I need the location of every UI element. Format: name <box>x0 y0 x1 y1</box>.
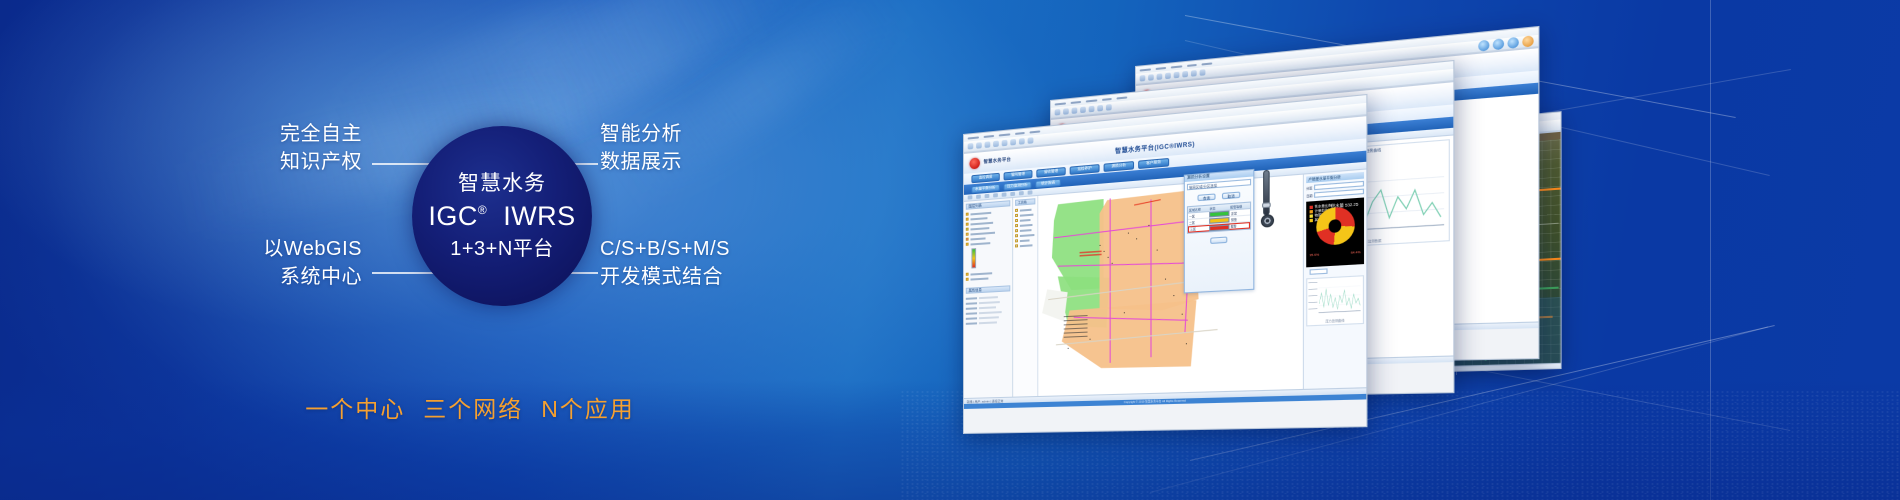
banner-root: 智慧水务平台 智慧水务平台(IGC®IWRS) 监控调度 管网管理 营收管理 巡… <box>0 0 1900 500</box>
chart-title-pressure: 压力监测曲线 <box>1307 317 1363 324</box>
hub-cn-title: 智慧水务 <box>458 173 546 194</box>
dialog-cancel-button[interactable]: 取消 <box>1222 192 1240 200</box>
toolbox-panel[interactable]: 工具箱 <box>1013 196 1038 397</box>
line-chart-svg <box>1319 278 1361 315</box>
status-swatch <box>1209 224 1229 231</box>
feature-line2: 数据展示 <box>600 148 820 176</box>
selector-label: 分区: <box>1306 185 1313 190</box>
date-label: 日期: <box>1306 193 1313 198</box>
hub-en-igc: IGC <box>428 201 478 231</box>
feature-line2: 开发模式结合 <box>600 263 830 291</box>
donut-chart-panel: 售水量比例 计量损失比例 物理漏损比例 其他损失比例 供水量 532.25 35… <box>1306 197 1364 267</box>
chart-y-ticks <box>1308 282 1317 315</box>
feature-line1: 完全自主 <box>182 120 362 148</box>
feature-bottom-left: 以WebGIS 系统中心 <box>182 235 362 292</box>
legend-ramp <box>971 248 976 268</box>
pipe-line <box>1150 199 1151 357</box>
row-level: 预警 <box>1231 216 1250 222</box>
feature-line1: C/S+B/S+M/S <box>600 235 830 263</box>
hub-subtitle: 1+3+N平台 <box>450 239 554 259</box>
row-level: 正常 <box>1231 210 1250 216</box>
subnav-item[interactable]: 统计报表 <box>1035 178 1060 187</box>
hub-en-iwrs: IWRS <box>503 201 576 231</box>
tagline-part1: 一个中心 <box>305 396 405 422</box>
hub-circle: 智慧水务 IGC® IWRS 1+3+N平台 <box>412 126 592 306</box>
feature-top-left: 完全自主 知识产权 <box>182 120 362 177</box>
panel-title-attributes: 属性信息 <box>966 285 1010 294</box>
donut-label-left: 35.6% <box>1310 252 1320 257</box>
hub-en-title: IGC® IWRS <box>428 203 575 230</box>
tool-item[interactable] <box>1015 242 1035 248</box>
map-node <box>1068 348 1069 349</box>
app-window-front[interactable]: 智慧水务平台 智慧水务平台(IGC®IWRS) 监控调度 管网管理 营收管理 巡… <box>963 94 1367 434</box>
donut-label-right: 64.4% <box>1351 250 1361 255</box>
feature-line1: 以WebGIS <box>182 235 362 263</box>
analysis-panel: 产销差水量平衡分析 分区: 日期: 售水量比例 计量损失比例 物理漏损比例 其他… <box>1303 170 1366 389</box>
layers-panel[interactable]: 图层列表 属性信息 <box>964 198 1013 398</box>
registered-icon: ® <box>478 203 487 217</box>
connector-line-bottom-left <box>372 272 438 274</box>
zoom-slider-thumb[interactable] <box>1262 202 1271 208</box>
dialog-table[interactable]: 区域名称 状态 报警等级 一区 正常 二区 预警 <box>1187 201 1251 233</box>
dialog-apply-button[interactable] <box>1210 236 1227 244</box>
zoom-slider[interactable] <box>1263 170 1270 216</box>
dialog-field[interactable]: 管网区域/分区选择 <box>1187 179 1251 191</box>
map-nav-control[interactable] <box>1261 170 1272 228</box>
row-name: 二区 <box>1188 219 1208 225</box>
feature-top-right: 智能分析 数据展示 <box>600 120 820 177</box>
dialog-leak-analysis[interactable]: 漏损分析设置 管网区域/分区选择 查询 取消 区域名称 状态 报警等级 <box>1184 169 1255 294</box>
panel-title-tools: 工具箱 <box>1015 198 1035 206</box>
tagline-part2: 三个网络 <box>423 396 523 422</box>
feature-bottom-right: C/S+B/S+M/S 开发模式结合 <box>600 235 830 292</box>
attribute-row <box>966 319 1010 326</box>
row-level: 报警 <box>1231 223 1249 229</box>
chart-line-pressure: 压力监测曲线 <box>1306 275 1364 326</box>
tagline-part3: N个应用 <box>541 396 635 422</box>
date-picker[interactable] <box>1314 189 1364 198</box>
range-label <box>1306 270 1307 274</box>
tagline: 一个中心三个网络N个应用 <box>170 390 770 424</box>
feature-line2: 系统中心 <box>182 263 362 291</box>
dialog-ok-button[interactable]: 查询 <box>1197 193 1215 201</box>
map-label-cluster <box>1064 314 1088 338</box>
window-content: 图层列表 属性信息 工具箱 <box>964 170 1366 398</box>
feature-line2: 知识产权 <box>182 148 362 176</box>
feature-line1: 智能分析 <box>600 120 820 148</box>
range-select[interactable] <box>1309 268 1327 274</box>
row-name: 一区 <box>1188 213 1208 219</box>
row-name: 三区 <box>1189 226 1208 232</box>
